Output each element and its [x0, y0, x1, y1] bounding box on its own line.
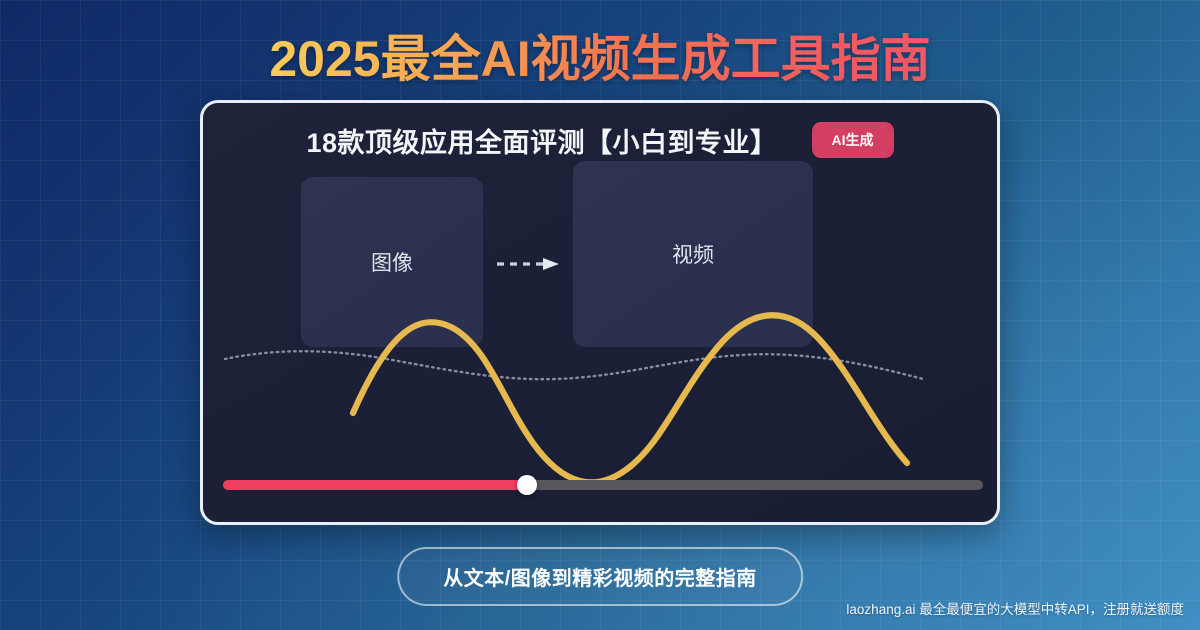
stage-box-image-label: 图像	[371, 247, 413, 277]
cta-button[interactable]: 从文本/图像到精彩视频的完整指南	[397, 547, 803, 606]
video-preview-card: 18款顶级应用全面评测【小白到专业】 AI生成 图像 视频	[200, 100, 1000, 525]
footer-attribution: laozhang.ai 最全最便宜的大模型中转API，注册就送额度	[846, 598, 1184, 618]
status-badge: AI生成	[812, 122, 894, 158]
dashed-arrow-right-icon	[495, 257, 561, 271]
progress-thumb[interactable]	[517, 475, 537, 495]
pipeline-stages: 图像 视频	[203, 161, 997, 409]
card-header: 18款顶级应用全面评测【小白到专业】 AI生成	[203, 117, 997, 163]
page-title: 2025最全AI视频生成工具指南	[0, 28, 1200, 90]
progress-fill	[223, 480, 527, 490]
stage-box-image[interactable]: 图像	[301, 177, 483, 347]
playback-progress[interactable]	[223, 476, 983, 494]
stage-box-video-label: 视频	[672, 239, 714, 269]
stage-box-video[interactable]: 视频	[573, 161, 813, 347]
card-subtitle: 18款顶级应用全面评测【小白到专业】	[306, 121, 777, 160]
